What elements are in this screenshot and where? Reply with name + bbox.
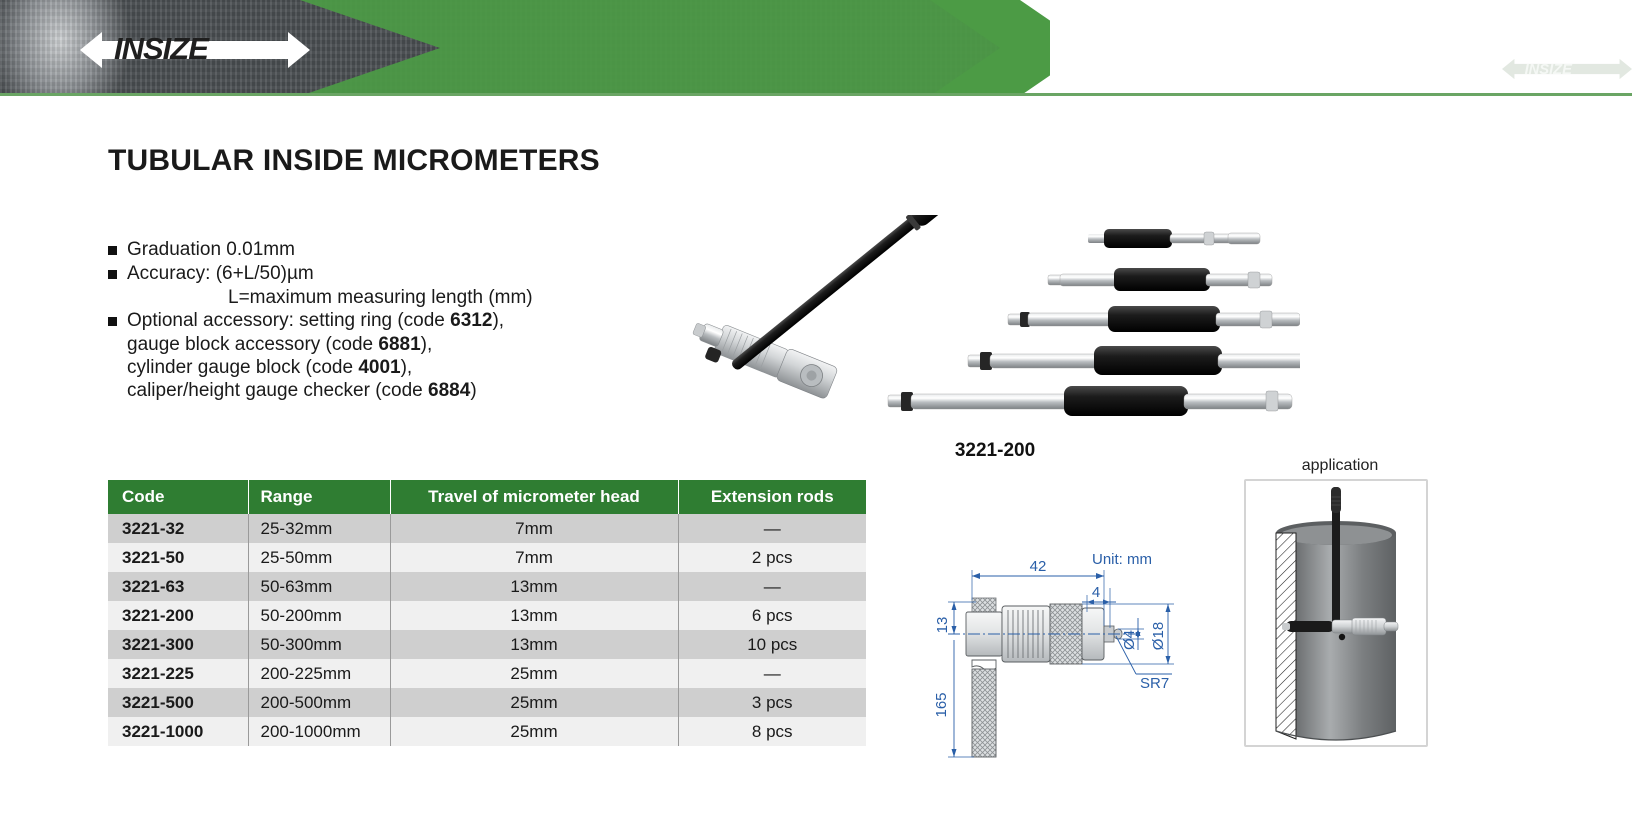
- datasheet-page: INSIZE INSIZE TUBULAR INSIDE MICROMETERS…: [0, 0, 1632, 833]
- cell-travel: 13mm: [390, 572, 678, 601]
- table-row[interactable]: 3221-1000 200-1000mm 25mm 8 pcs: [108, 717, 866, 746]
- cell-code: 3221-50: [108, 543, 248, 572]
- dim-diameter-18: Ø18: [1150, 622, 1167, 650]
- cell-code: 3221-300: [108, 630, 248, 659]
- application-caption: application: [1245, 457, 1435, 475]
- cell-range: 50-300mm: [248, 630, 390, 659]
- cell-range: 200-1000mm: [248, 717, 390, 746]
- dim-diameter-4: Ø4: [1121, 630, 1138, 650]
- bullet-square-icon: [108, 317, 117, 326]
- table-row[interactable]: 3221-200 50-200mm 13mm 6 pcs: [108, 601, 866, 630]
- feature-item-accuracy: Accuracy: (6+L/50)µm: [108, 262, 668, 285]
- accessory-label: gauge block accessory (code: [127, 334, 378, 355]
- cell-range: 200-225mm: [248, 659, 390, 688]
- product-caption: 3221-200: [690, 440, 1300, 462]
- column-header-travel: Travel of micrometer head: [390, 480, 678, 514]
- column-header-range: Range: [248, 480, 390, 514]
- column-header-rods: Extension rods: [678, 480, 866, 514]
- cell-rods: —: [678, 572, 866, 601]
- feature-text: Accuracy: (6+L/50)µm: [127, 262, 314, 285]
- cell-travel: 13mm: [390, 630, 678, 659]
- insize-logo-wordmark: INSIZE: [114, 31, 208, 67]
- cell-rods: 6 pcs: [678, 601, 866, 630]
- bullet-square-icon: [108, 246, 117, 255]
- feature-accessory-line: cylinder gauge block (code 4001),: [127, 356, 668, 379]
- dim-42: 42: [1030, 558, 1047, 575]
- accessory-code: 6312: [450, 310, 492, 331]
- table-row[interactable]: 3221-50 25-50mm 7mm 2 pcs: [108, 543, 866, 572]
- watermark-arrow-icon: INSIZE: [1502, 56, 1632, 82]
- cell-rods: 2 pcs: [678, 543, 866, 572]
- cell-travel: 25mm: [390, 717, 678, 746]
- dim-sr7: SR7: [1140, 675, 1169, 692]
- header-underline: [0, 93, 1632, 96]
- column-header-code: Code: [108, 480, 248, 514]
- cell-rods: —: [678, 514, 866, 543]
- accessory-label: cylinder gauge block (code: [127, 357, 358, 378]
- accessory-label: caliper/height gauge checker (code: [127, 380, 428, 401]
- application-illustration: [1246, 481, 1426, 745]
- cell-range: 50-63mm: [248, 572, 390, 601]
- insize-logo[interactable]: INSIZE: [80, 27, 310, 69]
- cell-code: 3221-500: [108, 688, 248, 717]
- accessory-code: 6884: [428, 380, 470, 401]
- insize-watermark: INSIZE: [1482, 52, 1632, 86]
- accessory-suffix: ),: [492, 310, 504, 331]
- cell-travel: 7mm: [390, 514, 678, 543]
- page-title: TUBULAR INSIDE MICROMETERS: [108, 144, 600, 178]
- cell-code: 3221-200: [108, 601, 248, 630]
- feature-text: Optional accessory: setting ring (code 6…: [127, 309, 504, 332]
- cell-rods: 3 pcs: [678, 688, 866, 717]
- table-row[interactable]: 3221-225 200-225mm 25mm —: [108, 659, 866, 688]
- feature-item-graduation: Graduation 0.01mm: [108, 238, 668, 261]
- table-row[interactable]: 3221-32 25-32mm 7mm —: [108, 514, 866, 543]
- cell-travel: 7mm: [390, 543, 678, 572]
- technical-drawing-illustration: 42 4 13 165 Ø4: [930, 540, 1200, 765]
- cell-code: 3221-32: [108, 514, 248, 543]
- product-photo: [690, 215, 1300, 430]
- accessory-code: 6881: [378, 334, 420, 355]
- cell-range: 25-50mm: [248, 543, 390, 572]
- feature-item-optional-accessory: Optional accessory: setting ring (code 6…: [108, 309, 668, 332]
- cell-range: 25-32mm: [248, 514, 390, 543]
- feature-accessory-line: gauge block accessory (code 6881),: [127, 333, 668, 356]
- cell-rods: 8 pcs: [678, 717, 866, 746]
- dim-13: 13: [934, 617, 951, 634]
- feature-text: Graduation 0.01mm: [127, 238, 295, 261]
- cell-code: 3221-63: [108, 572, 248, 601]
- accessory-suffix: ),: [401, 357, 413, 378]
- cell-rods: —: [678, 659, 866, 688]
- accessory-suffix: ),: [421, 334, 433, 355]
- feature-list: Graduation 0.01mm Accuracy: (6+L/50)µm L…: [108, 238, 668, 402]
- cell-range: 50-200mm: [248, 601, 390, 630]
- page-header: INSIZE INSIZE: [0, 0, 1632, 96]
- cell-code: 3221-225: [108, 659, 248, 688]
- dim-165: 165: [933, 692, 950, 717]
- accessory-label: Optional accessory: setting ring (code: [127, 310, 450, 331]
- cell-travel: 25mm: [390, 659, 678, 688]
- cell-code: 3221-1000: [108, 717, 248, 746]
- table-row[interactable]: 3221-63 50-63mm 13mm —: [108, 572, 866, 601]
- cell-travel: 25mm: [390, 688, 678, 717]
- technical-drawing: 42 4 13 165 Ø4: [930, 540, 1200, 765]
- cell-travel: 13mm: [390, 601, 678, 630]
- table-body: 3221-32 25-32mm 7mm — 3221-50 25-50mm 7m…: [108, 514, 866, 746]
- feature-accuracy-note: L=maximum measuring length (mm): [228, 286, 668, 309]
- accessory-suffix: ): [470, 380, 476, 401]
- bullet-square-icon: [108, 270, 117, 279]
- table-row[interactable]: 3221-500 200-500mm 25mm 3 pcs: [108, 688, 866, 717]
- cell-range: 200-500mm: [248, 688, 390, 717]
- table-header-row: Code Range Travel of micrometer head Ext…: [108, 480, 866, 514]
- feature-accessory-line: caliper/height gauge checker (code 6884): [127, 379, 668, 402]
- cell-rods: 10 pcs: [678, 630, 866, 659]
- accessory-code: 4001: [358, 357, 400, 378]
- svg-text:INSIZE: INSIZE: [1525, 62, 1574, 78]
- dim-4: 4: [1092, 584, 1100, 601]
- product-photo-illustration: [690, 215, 1300, 430]
- specification-table: Code Range Travel of micrometer head Ext…: [108, 480, 866, 746]
- application-illustration-box: [1244, 479, 1428, 747]
- table-row[interactable]: 3221-300 50-300mm 13mm 10 pcs: [108, 630, 866, 659]
